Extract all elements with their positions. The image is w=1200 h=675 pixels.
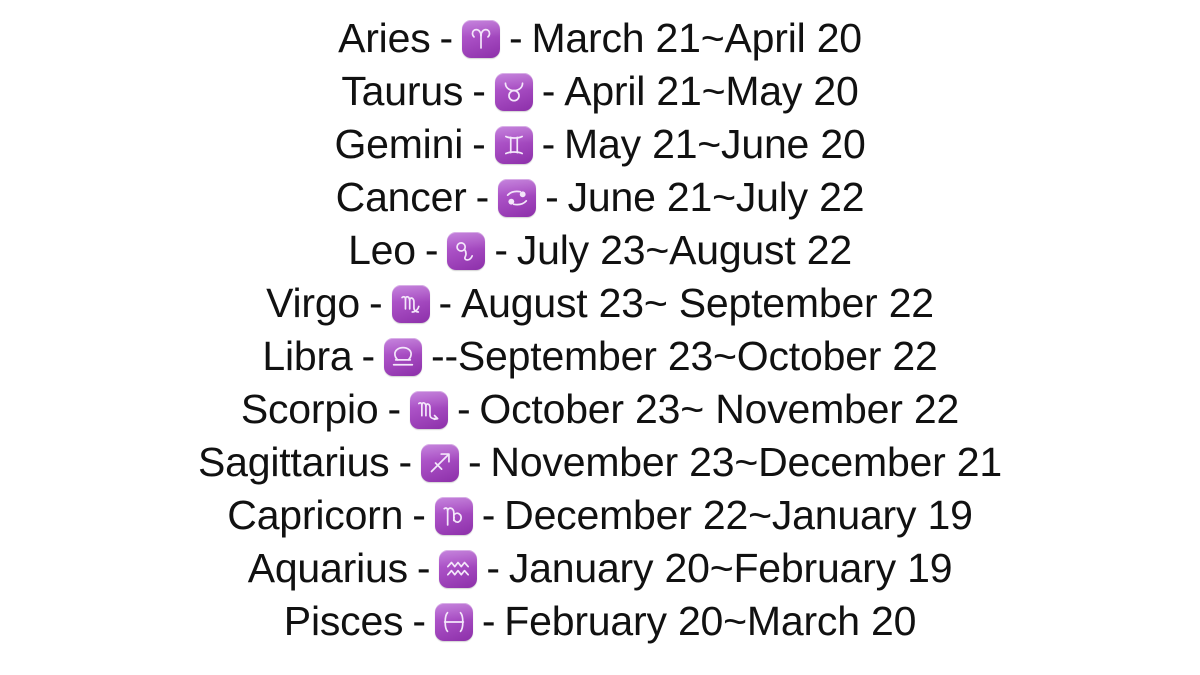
separator-dash: - <box>467 171 498 224</box>
sign-name-taurus: Taurus <box>341 65 463 118</box>
zodiac-sign-list: Aries - - March 21~April 20 Taurus - - A… <box>0 0 1200 675</box>
date-range-virgo: August 23~ September 22 <box>461 277 934 330</box>
separator-dash: - <box>389 436 420 489</box>
separator-dash: - <box>353 330 384 383</box>
sign-name-sagittarius: Sagittarius <box>198 436 390 489</box>
sign-name-scorpio: Scorpio <box>241 383 379 436</box>
zodiac-row-virgo: Virgo - - August 23~ September 22 <box>266 277 934 330</box>
separator-dash: - <box>422 330 444 383</box>
zodiac-row-sagittarius: Sagittarius - - November 23~December 21 <box>198 436 1002 489</box>
sign-name-gemini: Gemini <box>334 118 463 171</box>
separator-dash: - <box>431 12 462 65</box>
separator-dash: - <box>533 118 564 171</box>
date-range-pisces: February 20~March 20 <box>504 595 916 648</box>
zodiac-row-gemini: Gemini - - May 21~June 20 <box>334 118 865 171</box>
zodiac-row-cancer: Cancer - - June 21~July 22 <box>336 171 865 224</box>
zodiac-row-capricorn: Capricorn - - December 22~January 19 <box>227 489 972 542</box>
zodiac-row-pisces: Pisces - - February 20~March 20 <box>284 595 916 648</box>
separator-dash: - <box>360 277 391 330</box>
aquarius-zodiac-icon <box>439 550 477 588</box>
leo-zodiac-icon <box>447 232 485 270</box>
capricorn-zodiac-icon <box>435 497 473 535</box>
zodiac-row-libra: Libra - - -September 23~October 22 <box>262 330 937 383</box>
separator-dash: - <box>459 436 490 489</box>
sign-name-cancer: Cancer <box>336 171 467 224</box>
date-range-scorpio: October 23~ November 22 <box>479 383 959 436</box>
separator-dash: - <box>473 489 504 542</box>
separator-dash: - <box>485 224 516 277</box>
separator-dash: - <box>430 277 461 330</box>
date-range-gemini: May 21~June 20 <box>564 118 866 171</box>
sign-name-libra: Libra <box>262 330 352 383</box>
separator-dash: - <box>403 489 434 542</box>
sign-name-aries: Aries <box>338 12 430 65</box>
sign-name-aquarius: Aquarius <box>248 542 408 595</box>
separator-dash: - <box>416 224 447 277</box>
zodiac-row-aquarius: Aquarius - - January 20~February 19 <box>248 542 953 595</box>
libra-zodiac-icon <box>384 338 422 376</box>
zodiac-row-aries: Aries - - March 21~April 20 <box>338 12 862 65</box>
separator-dash: - <box>463 65 494 118</box>
date-range-sagittarius: November 23~December 21 <box>490 436 1002 489</box>
separator-dash: - <box>403 595 434 648</box>
separator-dash: - <box>500 12 531 65</box>
date-range-cancer: June 21~July 22 <box>568 171 865 224</box>
sign-name-virgo: Virgo <box>266 277 360 330</box>
cancer-zodiac-icon <box>498 179 536 217</box>
date-range-capricorn: December 22~January 19 <box>504 489 973 542</box>
taurus-zodiac-icon <box>495 73 533 111</box>
pisces-zodiac-icon <box>435 603 473 641</box>
separator-dash: - <box>533 65 564 118</box>
sign-name-capricorn: Capricorn <box>227 489 403 542</box>
aries-zodiac-icon <box>462 20 500 58</box>
separator-dash: - <box>463 118 494 171</box>
date-range-leo: July 23~August 22 <box>517 224 852 277</box>
sign-name-leo: Leo <box>348 224 416 277</box>
virgo-zodiac-icon <box>392 285 430 323</box>
separator-dash: - <box>477 542 508 595</box>
date-range-aquarius: January 20~February 19 <box>509 542 952 595</box>
separator-dash: - <box>448 383 479 436</box>
scorpio-zodiac-icon <box>410 391 448 429</box>
date-range-taurus: April 21~May 20 <box>564 65 858 118</box>
sagittarius-zodiac-icon <box>421 444 459 482</box>
separator-dash: - <box>536 171 567 224</box>
gemini-zodiac-icon <box>495 126 533 164</box>
sign-name-pisces: Pisces <box>284 595 404 648</box>
separator-dash: - <box>473 595 504 648</box>
date-range-libra: -September 23~October 22 <box>444 330 937 383</box>
separator-dash: - <box>408 542 439 595</box>
separator-dash: - <box>378 383 409 436</box>
zodiac-row-taurus: Taurus - - April 21~May 20 <box>341 65 858 118</box>
zodiac-row-scorpio: Scorpio - - October 23~ November 22 <box>241 383 959 436</box>
zodiac-row-leo: Leo - - July 23~August 22 <box>348 224 852 277</box>
date-range-aries: March 21~April 20 <box>531 12 861 65</box>
